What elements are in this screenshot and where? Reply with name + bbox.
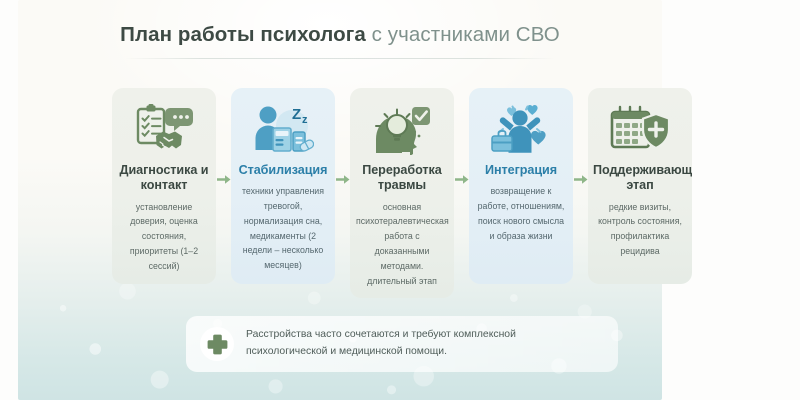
page-title-strong: План работы психолога <box>120 23 366 46</box>
title-block: План работы психолога с участниками СВО <box>18 24 662 59</box>
summary-note-line-2: психологической и медицинской помощи. <box>246 344 516 361</box>
stage-card-maintenance[interactable]: Поддерживающий этап редкие визиты, контр… <box>588 88 692 284</box>
stage-row: Диагностика и контакт установление довер… <box>112 88 692 293</box>
stage-description: техники управления тревогой, нормализаци… <box>236 184 330 273</box>
summary-note-banner: Расстройства часто сочетаются и требуют … <box>186 316 618 372</box>
medical-cross-icon <box>200 327 234 361</box>
infographic-poster: План работы психолога с участниками СВО <box>0 0 800 400</box>
stage-description: установление доверия, оценка состояния, … <box>117 200 211 274</box>
summary-note-line-1: Расстройства часто сочетаются и требуют … <box>246 327 516 344</box>
calendar-shield-plus-icon <box>593 100 687 158</box>
stage-description: редкие визиты, контроль состояния, профи… <box>593 200 687 259</box>
stage-description: основная психотералевтическая работа с д… <box>355 200 449 289</box>
title-divider <box>125 58 555 59</box>
arrow-stabilization-to-trauma <box>335 88 350 185</box>
person-hearts-briefcase-icon <box>474 100 568 158</box>
person-sleep-medication-icon: Z z <box>236 100 330 158</box>
stage-title: Интеграция <box>474 163 568 178</box>
svg-text:z: z <box>302 114 308 126</box>
left-gutter <box>0 0 18 400</box>
stage-card-integration[interactable]: Интеграция возвращение к работе, отношен… <box>469 88 573 284</box>
page-title: План работы психолога с участниками СВО <box>18 24 662 47</box>
page-title-light: с участниками СВО <box>366 23 560 46</box>
svg-text:Z: Z <box>292 106 301 123</box>
stage-description: возвращение к работе, отношениям, поиск … <box>474 184 568 243</box>
stage-card-stabilization[interactable]: Z z <box>231 88 335 284</box>
clipboard-checklist-handshake-icon <box>117 100 211 158</box>
stage-title: Диагностика и контакт <box>117 163 211 194</box>
head-lightbulb-check-icon <box>355 100 449 158</box>
stage-title: Поддерживающий этап <box>593 163 687 194</box>
summary-note-text: Расстройства часто сочетаются и требуют … <box>246 327 516 361</box>
stage-title: Стабилизация <box>236 163 330 178</box>
stage-card-diagnostics[interactable]: Диагностика и контакт установление довер… <box>112 88 216 284</box>
arrow-trauma-to-integration <box>454 88 469 185</box>
arrow-integration-to-maintenance <box>573 88 588 185</box>
stage-card-trauma-processing[interactable]: Переработка травмы основная психотералев… <box>350 88 454 298</box>
arrow-diagnostics-to-stabilization <box>216 88 231 185</box>
stage-title: Переработка травмы <box>355 163 449 194</box>
